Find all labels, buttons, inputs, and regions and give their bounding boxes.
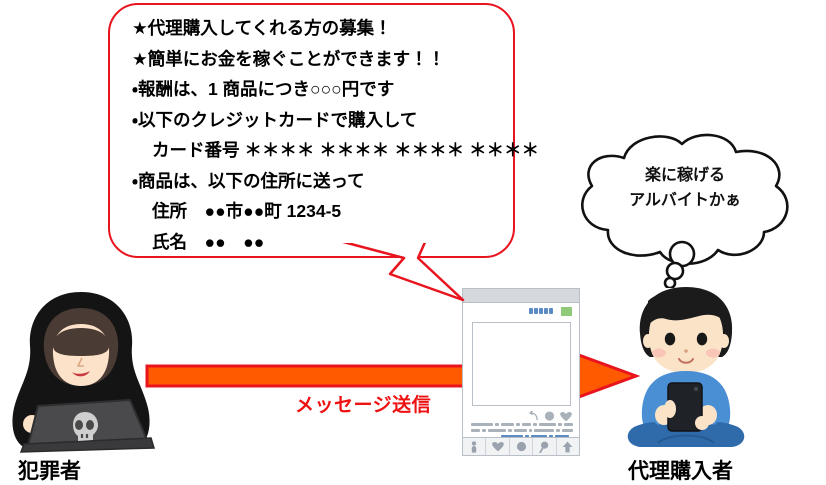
text-line-2 [471, 429, 573, 432]
diagram-canvas: ★代理購入してくれる方の募集！ ★簡単にお金を稼ぐことができます！！ ・報酬は、… [0, 0, 826, 485]
battery-icon [561, 307, 572, 316]
scam-line-6: ・商品は、以下の住所に送って [132, 166, 503, 197]
app-bottom-nav[interactable] [463, 437, 579, 455]
scam-line-2: ★簡単にお金を稼ぐことができます！！ [132, 44, 503, 75]
search-icon[interactable] [539, 441, 550, 453]
comment-icon[interactable] [544, 411, 555, 422]
arrow-label: メッセージ送信 [295, 390, 431, 417]
scam-message-lines: ★代理購入してくれる方の募集！ ★簡単にお金を稼ぐことができます！！ ・報酬は、… [132, 13, 503, 257]
thought-cloud-text: 楽に稼げる アルバイトかぁ [610, 163, 760, 213]
nav-item-upload[interactable] [557, 438, 579, 455]
nav-item-search[interactable] [533, 438, 556, 455]
buyer-caption: 代理購入者 [628, 455, 733, 485]
hooded-criminal-with-laptop [6, 288, 156, 453]
scam-line-3: ・報酬は、1 商品につき○○○円です [132, 74, 503, 105]
text-line-1 [471, 423, 573, 426]
post-action-icons[interactable] [528, 411, 572, 422]
heart-icon[interactable] [560, 411, 572, 422]
nav-item-profile[interactable] [463, 438, 486, 455]
upload-arrow-icon[interactable] [562, 441, 573, 453]
signal-dots-icon [529, 308, 553, 314]
nav-item-home[interactable] [510, 438, 533, 455]
criminal-caption: 犯罪者 [18, 455, 81, 485]
person-icon[interactable] [470, 441, 478, 453]
photo-placeholder [472, 322, 571, 406]
nav-item-likes[interactable] [486, 438, 509, 455]
scam-message-bubble: ★代理購入してくれる方の募集！ ★簡単にお金を稼ぐことができます！！ ・報酬は、… [108, 3, 515, 258]
scam-line-1: ★代理購入してくれる方の募集！ [132, 13, 503, 44]
circle-icon[interactable] [516, 441, 527, 452]
scam-line-5-card-number: カード番号 ＊＊＊＊ ＊＊＊＊ ＊＊＊＊ ＊＊＊＊ [132, 135, 503, 166]
speech-bubble-tail [330, 238, 490, 323]
scam-line-4: ・以下のクレジットカードで購入して [132, 105, 503, 136]
heart-icon[interactable] [492, 441, 504, 452]
scam-line-7-address: 住所 ●●市●●町 1234-5 [132, 196, 503, 227]
reply-arrow-icon[interactable] [528, 411, 539, 422]
